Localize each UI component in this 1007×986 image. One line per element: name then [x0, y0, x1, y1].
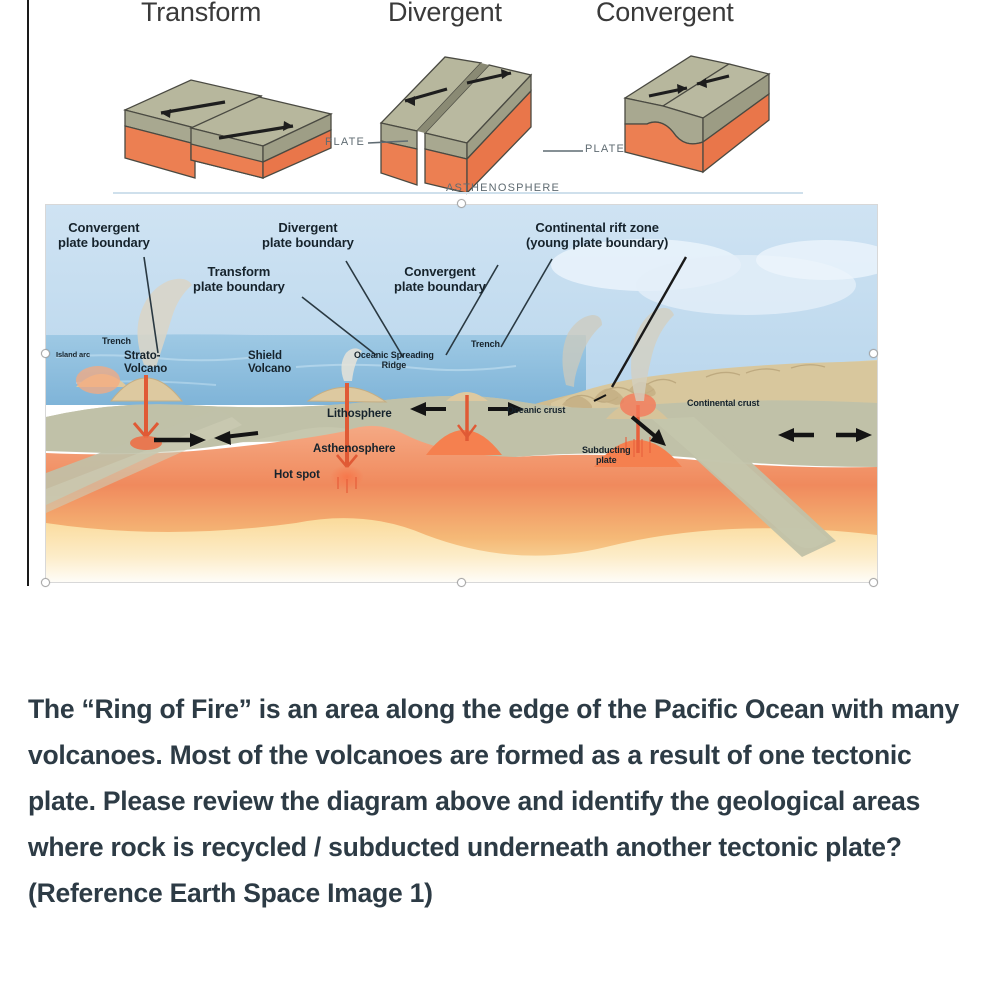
label-asthenosphere: Asthenosphere: [313, 443, 395, 456]
label-convergent-left: Convergent plate boundary: [58, 221, 150, 250]
resize-handle-bottom-right[interactable]: [869, 578, 878, 587]
cross-section-image[interactable]: Convergent plate boundary Divergent plat…: [45, 204, 878, 583]
label-divergent: Divergent plate boundary: [262, 221, 354, 250]
label-plate-left: PLATE: [325, 136, 365, 148]
heading-transform: Transform: [141, 0, 261, 28]
label-trench-right: Trench: [471, 339, 500, 349]
label-convergent-right: Convergent plate boundary: [394, 265, 486, 294]
label-shield-volcano: Shield Volcano: [248, 350, 291, 376]
label-island-arc: Island arc: [56, 351, 90, 359]
plate-boundary-block-figure: Transform Divergent Convergent: [113, 0, 803, 196]
left-vertical-rule: [27, 0, 29, 586]
label-oceanic-crust: Oceanic crust: [507, 405, 565, 415]
question-text: The “Ring of Fire” is an area along the …: [28, 686, 980, 916]
label-transform: Transform plate boundary: [193, 265, 285, 294]
label-oceanic-spreading-ridge: Oceanic Spreading Ridge: [354, 350, 434, 370]
label-plate-right: PLATE: [585, 143, 625, 155]
block-callout-lines: [113, 38, 803, 190]
resize-handle-top-center[interactable]: [457, 199, 466, 208]
label-lithosphere: Lithosphere: [327, 408, 392, 421]
label-trench-left: Trench: [102, 336, 131, 346]
label-continental-rift-zone: Continental rift zone (young plate bound…: [526, 221, 668, 250]
resize-handle-bottom-center[interactable]: [457, 578, 466, 587]
heading-divergent: Divergent: [388, 0, 502, 28]
page-root: Transform Divergent Convergent: [0, 0, 1007, 986]
label-continental-crust: Continental crust: [687, 398, 759, 408]
resize-handle-middle-right[interactable]: [869, 349, 878, 358]
figure-separator: [113, 192, 803, 194]
resize-handle-middle-left[interactable]: [41, 349, 50, 358]
label-strato-volcano: Strato- Volcano: [124, 350, 167, 376]
label-hot-spot: Hot spot: [274, 469, 320, 482]
heading-convergent: Convergent: [596, 0, 734, 28]
cross-section-artwork: [46, 205, 877, 582]
label-subducting-plate: Subducting plate: [582, 445, 631, 465]
block-diagrams: PLATE PLATE ASTHENOSPHERE: [113, 38, 803, 190]
resize-handle-bottom-left[interactable]: [41, 578, 50, 587]
